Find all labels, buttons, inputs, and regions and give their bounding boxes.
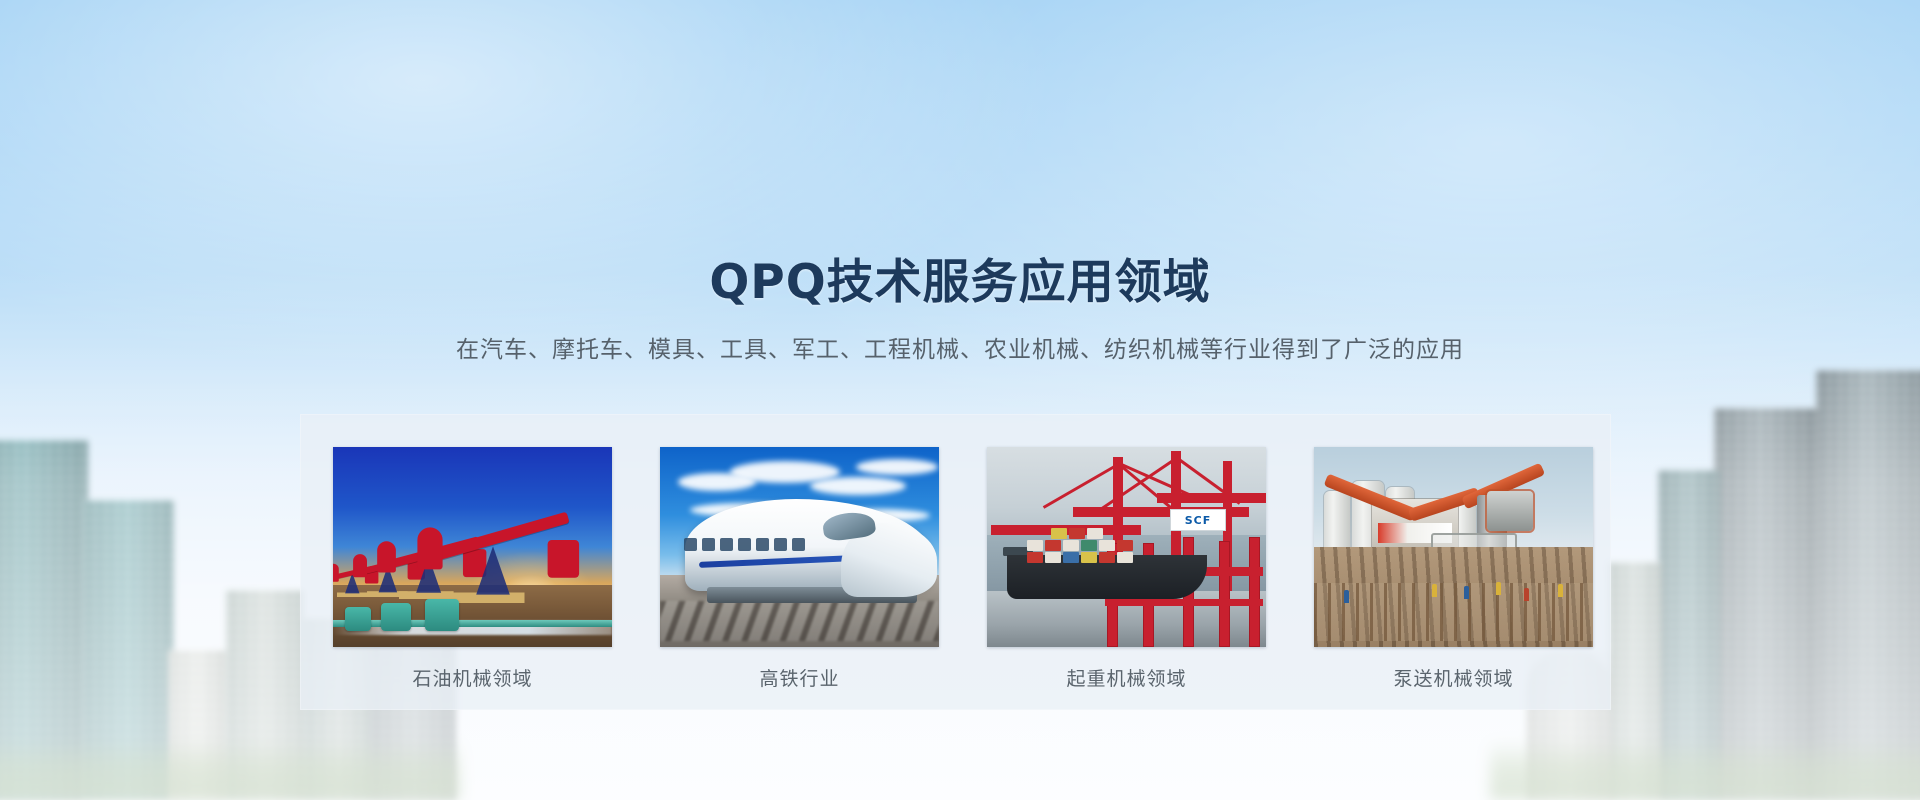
high-speed-train-photo[interactable]: [660, 447, 939, 647]
list-item-label: 泵送机械领域: [1314, 664, 1593, 691]
page-title: QPQ技术服务应用领域: [0, 243, 1920, 312]
crane-operator-label: SCF: [1170, 509, 1226, 531]
application-cards: 石油机械领域: [333, 447, 1593, 691]
hero-content: QPQ技术服务应用领域 在汽车、摩托车、模具、工具、军工、工程机械、农业机械、纺…: [0, 0, 1920, 800]
list-item[interactable]: SCF 起重: [987, 447, 1266, 691]
list-item[interactable]: 石油机械领域: [333, 447, 612, 691]
application-fields-panel: 石油机械领域: [300, 414, 1611, 710]
list-item-label: 高铁行业: [660, 664, 939, 691]
list-item[interactable]: 泵送机械领域: [1314, 447, 1593, 691]
oil-pumpjacks-photo[interactable]: [333, 447, 612, 647]
page-subtitle: 在汽车、摩托车、模具、工具、军工、工程机械、农业机械、纺织机械等行业得到了广泛的…: [0, 330, 1920, 364]
port-container-cranes-photo[interactable]: SCF: [987, 447, 1266, 647]
list-item[interactable]: 高铁行业: [660, 447, 939, 691]
concrete-pump-machinery-photo[interactable]: [1314, 447, 1593, 647]
list-item-label: 起重机械领域: [987, 664, 1266, 691]
list-item-label: 石油机械领域: [333, 664, 612, 691]
